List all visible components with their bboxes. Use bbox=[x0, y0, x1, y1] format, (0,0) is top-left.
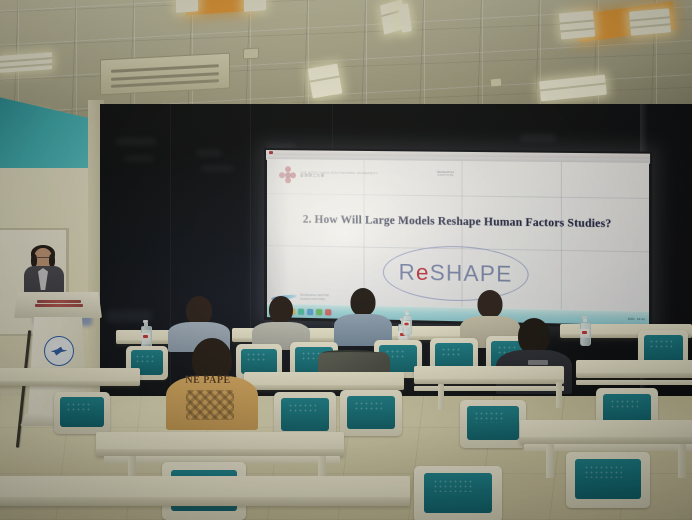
desk-edge bbox=[414, 379, 564, 384]
wall-reflection bbox=[124, 156, 154, 161]
chair-backrest bbox=[467, 406, 519, 440]
desk-row-mid-right bbox=[414, 366, 564, 384]
projector-panel-seam bbox=[267, 193, 649, 199]
jacket-text-label: NE PAPE bbox=[185, 375, 230, 386]
lectern-sign-line-1 bbox=[37, 300, 81, 303]
app-icon bbox=[269, 151, 273, 154]
desk-leg bbox=[546, 444, 554, 478]
lectern-sign-line-2 bbox=[35, 304, 83, 307]
desk-rail bbox=[414, 386, 564, 391]
desk-edge bbox=[0, 497, 410, 506]
bottle-label bbox=[141, 333, 150, 341]
wall-reflection bbox=[116, 138, 156, 145]
ac-vent-slat bbox=[111, 64, 219, 73]
chair bbox=[460, 400, 526, 448]
desk-edge bbox=[576, 373, 692, 378]
chair bbox=[566, 452, 650, 508]
ceiling-light-3 bbox=[176, 0, 198, 13]
chair bbox=[340, 390, 402, 436]
attendee-collar-tag bbox=[528, 360, 548, 365]
chair bbox=[414, 466, 502, 520]
screen-edge-shadow bbox=[267, 159, 289, 303]
glasses-icon bbox=[35, 257, 51, 262]
reshape-accent-letter: e bbox=[416, 260, 430, 286]
desk-leg bbox=[678, 444, 686, 478]
chair-backrest bbox=[575, 459, 641, 499]
lectern-top bbox=[14, 292, 102, 318]
taskbar-tray[interactable]: ENG 16:42 bbox=[628, 316, 645, 320]
presentation-slide: THE HONG KONG POLYTECHNIC UNIVERSITY 香港理… bbox=[267, 159, 649, 311]
attendee-head bbox=[351, 288, 376, 316]
chair-backrest bbox=[281, 398, 329, 431]
ceiling-light-1 bbox=[0, 52, 52, 73]
desk-row-front-right bbox=[520, 420, 692, 444]
bird-icon bbox=[51, 347, 68, 356]
doc-icon[interactable] bbox=[325, 309, 331, 315]
jacket-text: NE PAPE bbox=[181, 374, 235, 386]
desk-rail bbox=[576, 380, 692, 385]
projector-panel-seam bbox=[561, 162, 562, 309]
desk-edge bbox=[0, 381, 140, 386]
reshape-prefix: R bbox=[399, 259, 416, 285]
desk-edge bbox=[520, 437, 692, 444]
wall-reflection bbox=[200, 166, 234, 171]
attendee-head bbox=[478, 290, 503, 318]
bottle-label bbox=[580, 329, 589, 337]
projection-screen: THE HONG KONG POLYTECHNIC UNIVERSITY 香港理… bbox=[264, 148, 652, 329]
attendee-head bbox=[518, 318, 550, 354]
ac-vent-slat bbox=[111, 79, 219, 88]
slide-title: 2. How Will Large Models Reshape Human F… bbox=[267, 213, 649, 231]
jacket-pattern bbox=[186, 390, 234, 420]
desk-edge bbox=[96, 449, 344, 456]
chair-backrest bbox=[424, 473, 493, 513]
ceiling-sprinkler bbox=[490, 77, 503, 87]
sublogo-line-2: INSTITUTE bbox=[437, 174, 454, 178]
taskbar-clock: 16:42 bbox=[637, 316, 645, 320]
university-name-zh: 香港理工大學 bbox=[300, 175, 378, 180]
taskbar-language: ENG bbox=[628, 316, 635, 320]
chair-backrest bbox=[347, 396, 395, 429]
polyu-logo: THE HONG KONG POLYTECHNIC UNIVERSITY 香港理… bbox=[279, 166, 378, 184]
attendee-head bbox=[269, 296, 293, 323]
ceiling-light-9 bbox=[629, 8, 671, 35]
bottle-label bbox=[403, 321, 411, 328]
ceiling-light-10 bbox=[308, 64, 343, 99]
chair-backrest bbox=[60, 397, 104, 427]
slide-secondary-logo: RESEARCH INSTITUTE bbox=[437, 171, 454, 178]
ceiling-light-8 bbox=[559, 11, 595, 40]
chair bbox=[54, 392, 110, 434]
attendee-blue-shirt-center bbox=[334, 288, 392, 346]
desk-row-mid-left bbox=[0, 368, 140, 386]
desk-row-foreground bbox=[0, 476, 410, 506]
university-name: THE HONG KONG POLYTECHNIC UNIVERSITY 香港理… bbox=[300, 171, 378, 179]
backpack-strap bbox=[322, 350, 377, 356]
lectern-sign bbox=[32, 296, 86, 310]
wall-reflection bbox=[520, 134, 556, 142]
reshape-logo-text: ReSHAPE bbox=[399, 259, 513, 287]
ceiling-light-4 bbox=[244, 0, 266, 12]
desk-leg bbox=[556, 382, 562, 408]
ceiling-sensor bbox=[243, 48, 259, 60]
lecture-hall-photo: THE HONG KONG POLYTECHNIC UNIVERSITY 香港理… bbox=[0, 0, 692, 520]
wall-reflection bbox=[196, 150, 222, 156]
desk-leg bbox=[438, 384, 444, 410]
bird-crest-emblem bbox=[44, 336, 74, 366]
ceiling-ac-vent bbox=[100, 53, 230, 96]
chat-icon[interactable] bbox=[316, 309, 322, 315]
reshape-suffix: SHAPE bbox=[430, 260, 513, 287]
desk-row-front-left bbox=[96, 432, 344, 456]
desk-row-mid-right-2 bbox=[576, 360, 692, 378]
attendee-head bbox=[186, 296, 212, 325]
desk-row-mid-center bbox=[244, 372, 404, 390]
